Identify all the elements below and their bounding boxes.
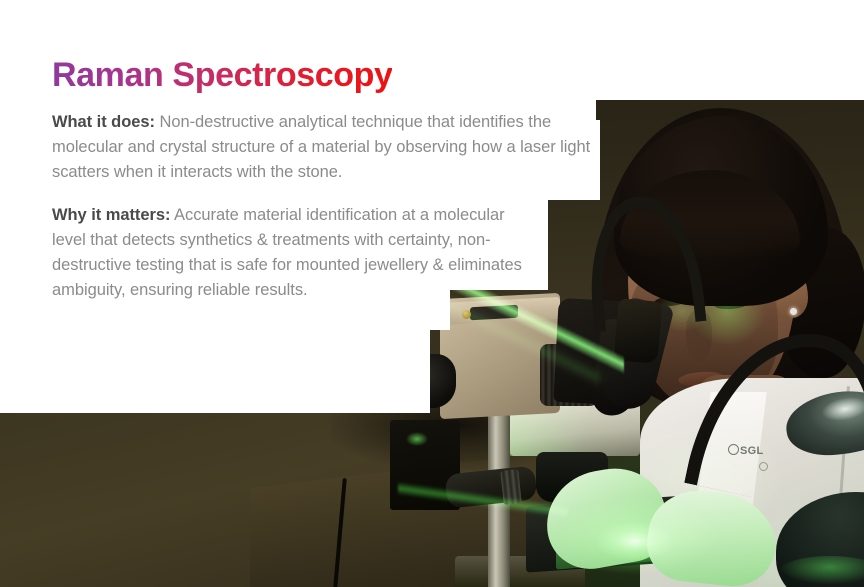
raman-spectroscopy-card: SGL: [0, 0, 864, 587]
text-content: Raman Spectroscopy What it does: Non-des…: [0, 0, 864, 587]
paragraph-2-lead: Why it matters:: [52, 206, 170, 224]
paragraph-what-it-does: What it does: Non-destructive analytical…: [52, 110, 600, 185]
paragraph-1-lead: What it does:: [52, 113, 155, 131]
page-title: Raman Spectroscopy: [52, 54, 392, 96]
paragraph-why-it-matters: Why it matters: Accurate material identi…: [52, 203, 538, 303]
